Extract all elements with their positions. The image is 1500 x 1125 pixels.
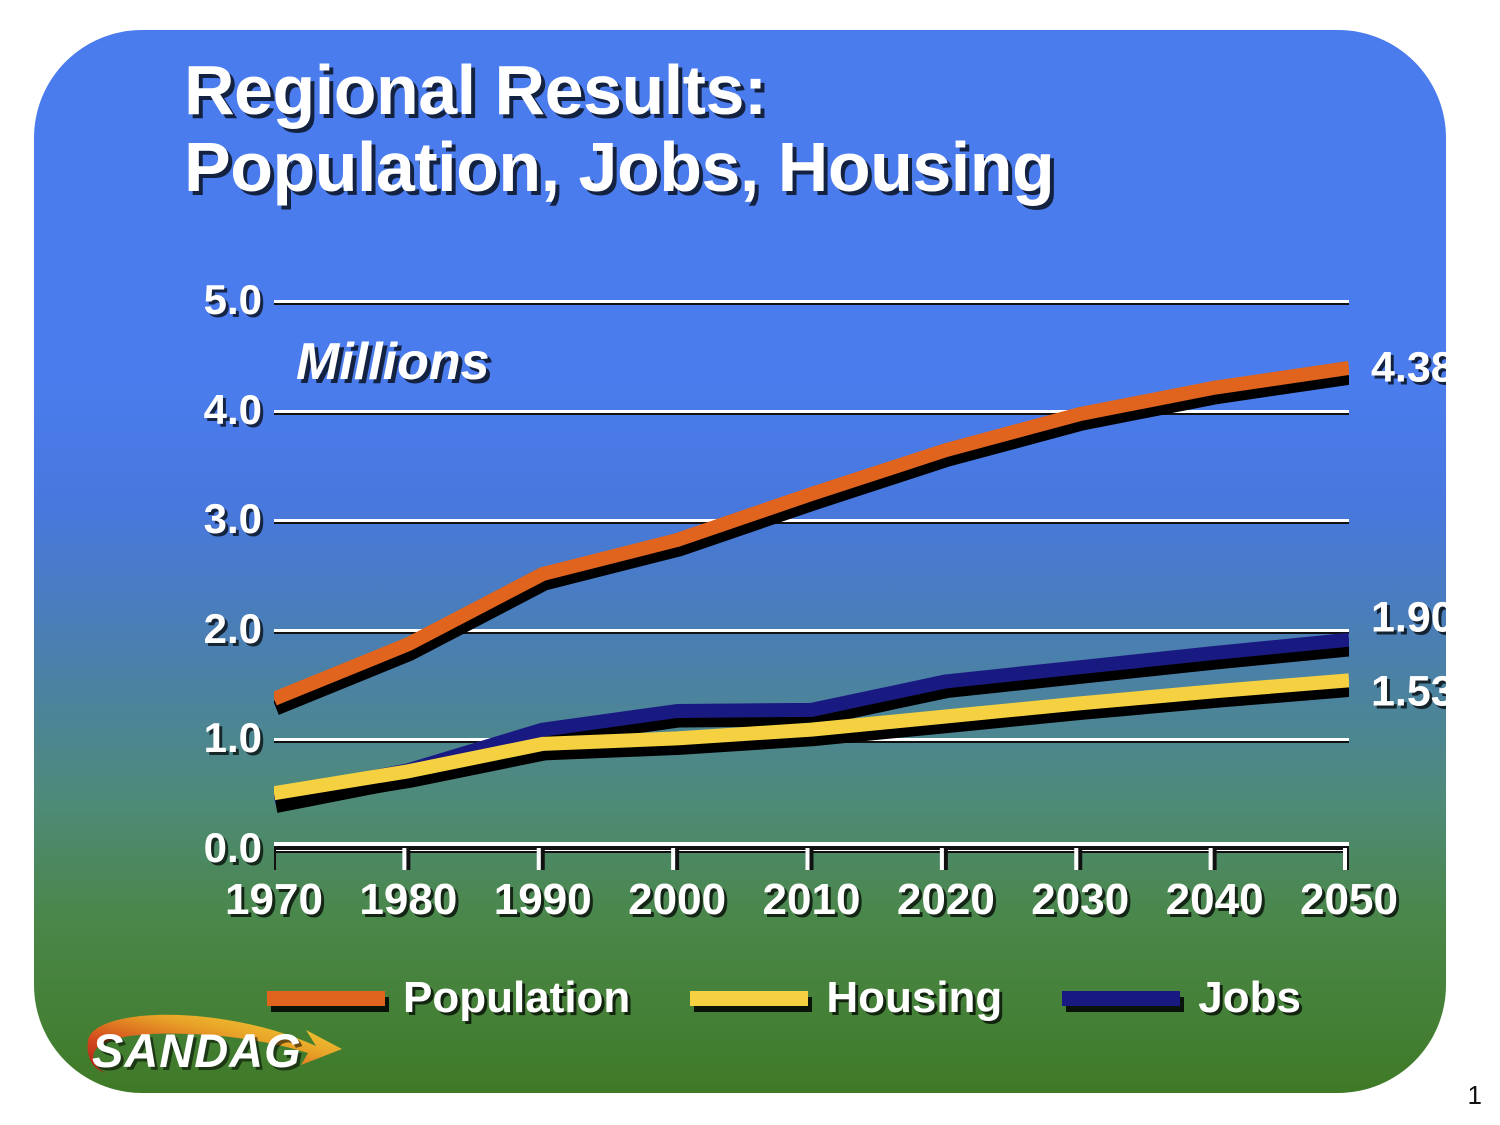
y-tick-label: 3.0 — [152, 495, 262, 543]
legend-swatch-population — [267, 991, 385, 1006]
chart-legend: PopulationHousingJobs — [224, 968, 1344, 1028]
value-label-jobs: 1.90 — [1371, 593, 1446, 642]
x-tick-label: 1980 — [359, 875, 457, 925]
x-tick-label: 2010 — [763, 875, 861, 925]
y-tick-label: 0.0 — [152, 824, 262, 872]
x-axis-line — [274, 848, 1349, 870]
y-tick-label: 1.0 — [152, 714, 262, 762]
slide-root: Regional Results: Population, Jobs, Hous… — [0, 0, 1500, 1125]
y-tick-label: 5.0 — [152, 276, 262, 324]
line-chart: 0.01.02.03.04.05.0 Millions 4.381.901.53… — [34, 30, 1446, 1093]
legend-swatch-jobs — [1062, 991, 1180, 1006]
sandag-wordmark: SANDAG — [92, 1023, 302, 1078]
slide-canvas: Regional Results: Population, Jobs, Hous… — [34, 30, 1446, 1093]
y-tick-label: 2.0 — [152, 605, 262, 653]
legend-item-housing[interactable]: Housing — [690, 973, 1002, 1023]
value-label-housing: 1.53 — [1371, 668, 1446, 717]
x-tick-label: 2040 — [1166, 875, 1264, 925]
y-tick-label: 4.0 — [152, 386, 262, 434]
y-axis: 0.01.02.03.04.05.0 — [152, 30, 262, 1093]
x-tick-label: 2000 — [628, 875, 726, 925]
legend-item-jobs[interactable]: Jobs — [1062, 973, 1301, 1023]
legend-label-population: Population — [403, 973, 630, 1023]
legend-swatch-housing — [690, 991, 808, 1006]
units-label: Millions — [296, 332, 490, 392]
legend-label-jobs: Jobs — [1198, 973, 1301, 1023]
sandag-logo: SANDAG — [54, 1005, 354, 1093]
x-tick-label: 2050 — [1300, 875, 1398, 925]
x-tick-label: 1970 — [225, 875, 323, 925]
x-tick-label: 1990 — [494, 875, 592, 925]
legend-label-housing: Housing — [826, 973, 1002, 1023]
x-tick-label: 2030 — [1031, 875, 1129, 925]
x-axis: 197019801990200020102020203020402050 — [274, 875, 1349, 935]
value-label-population: 4.38 — [1371, 343, 1446, 392]
page-number: 1 — [1468, 1080, 1482, 1111]
x-tick-label: 2020 — [897, 875, 995, 925]
